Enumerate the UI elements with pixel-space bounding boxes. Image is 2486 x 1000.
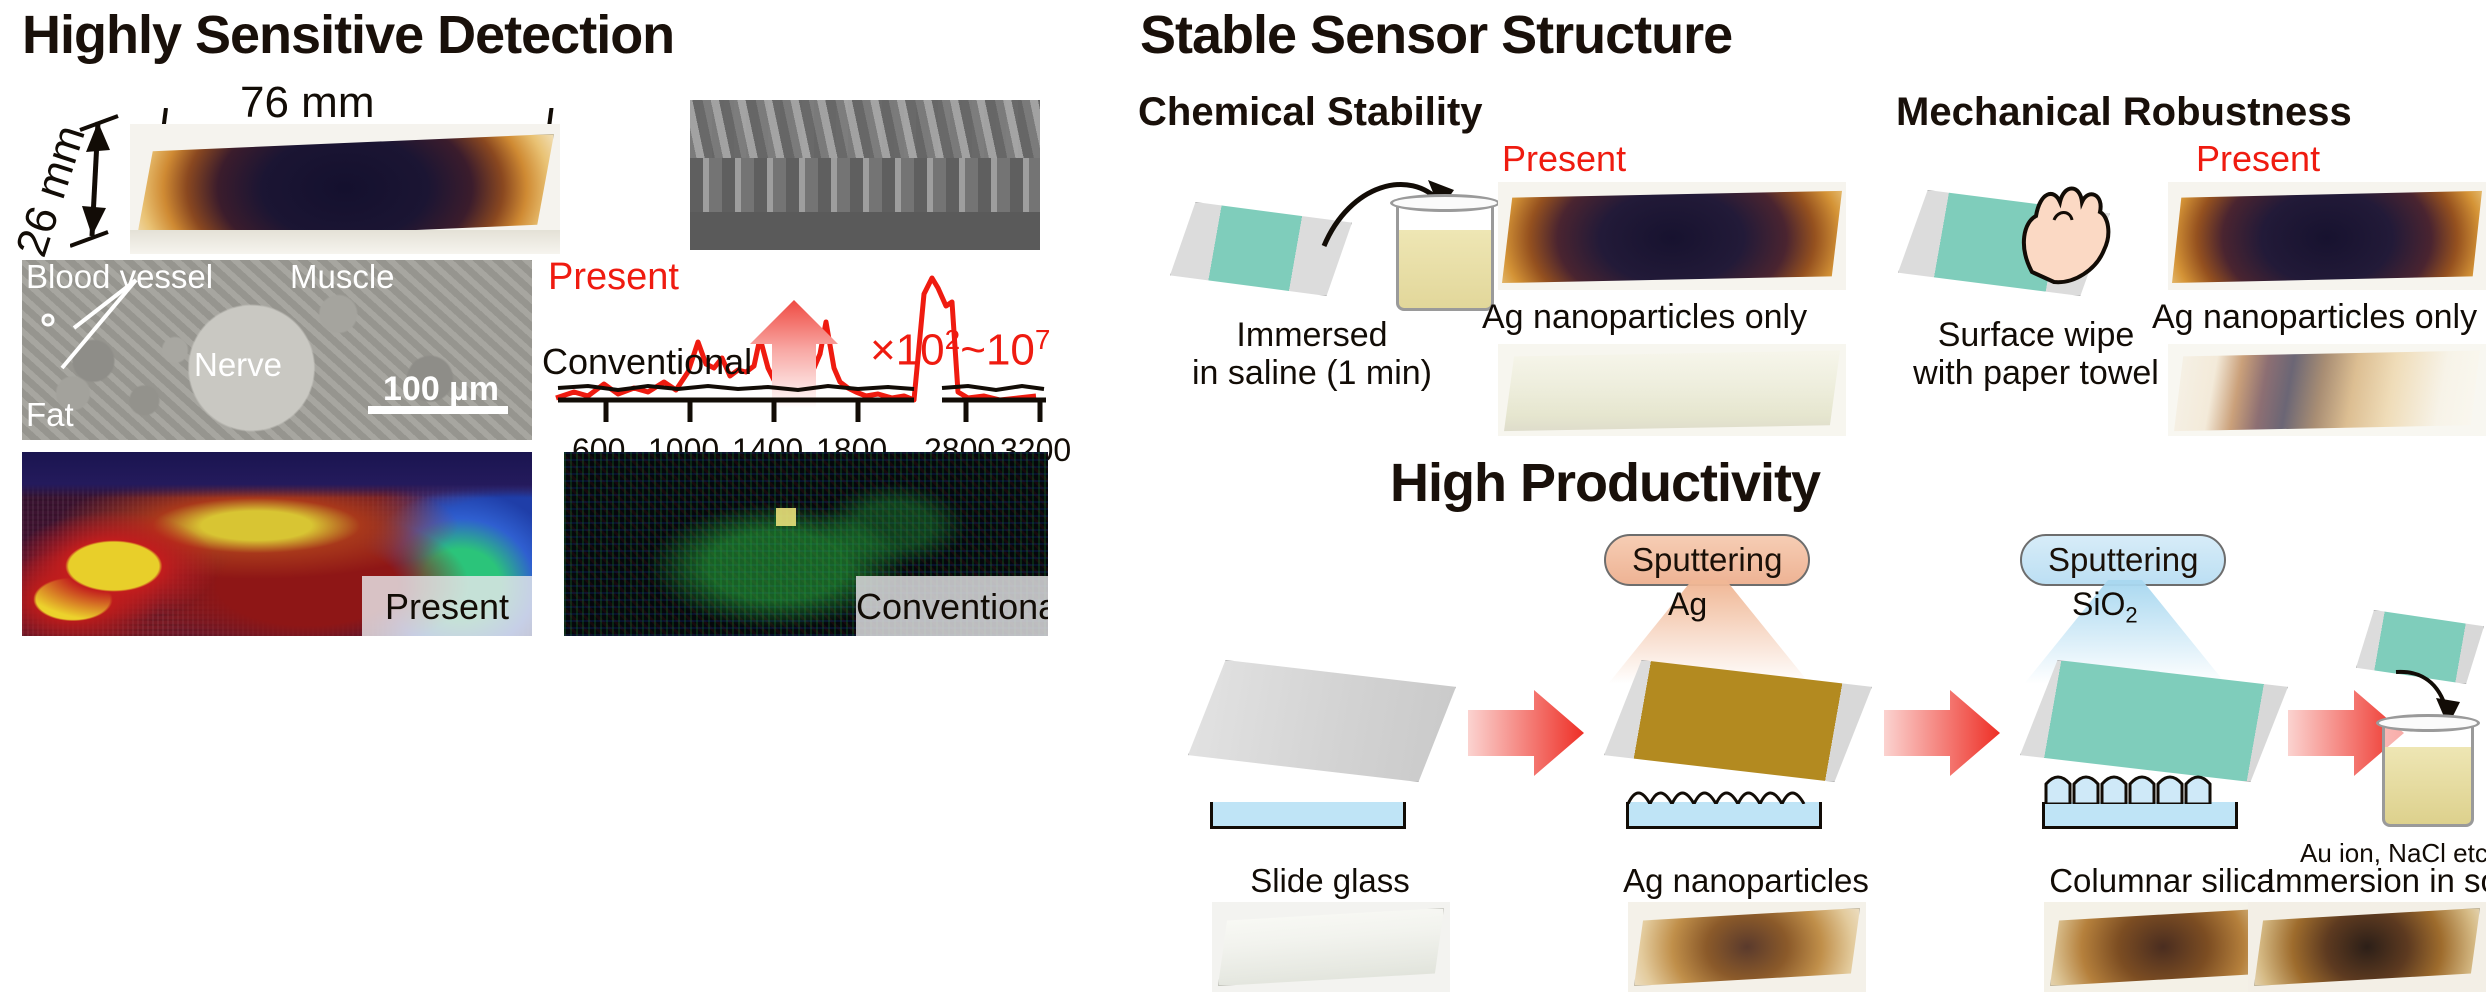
chemical-stability-illustration bbox=[1170, 160, 1500, 310]
enhancement-tilde: ~ bbox=[960, 326, 986, 375]
mechanical-other-slide-photo bbox=[2168, 344, 2486, 436]
mechanical-other-label: Ag nanoparticles only bbox=[2152, 298, 2477, 336]
chemical-other-slide-photo bbox=[1498, 344, 1846, 436]
step3-sputtering-badge: Sputtering bbox=[2020, 534, 2226, 586]
tissue-label-muscle: Muscle bbox=[290, 260, 395, 296]
enhancement-prefix: × bbox=[870, 326, 896, 375]
step2-caption: Ag nanoparticles bbox=[1596, 862, 1896, 900]
step3-layer-diagram bbox=[2042, 802, 2238, 829]
raman-map-conventional-label: Conventional bbox=[856, 586, 1048, 628]
step1-layer-diagram bbox=[1210, 802, 1406, 829]
step3-result-photo bbox=[2044, 902, 2282, 992]
enhancement-exponent-2: 7 bbox=[1035, 324, 1051, 355]
process-step-3 bbox=[2012, 660, 2312, 840]
productivity-title-text: High Productivity bbox=[1390, 452, 1860, 514]
step2-slide-graphic bbox=[1604, 660, 1872, 782]
section-title-sensitive: Highly Sensitive Detection bbox=[22, 4, 772, 66]
stable-title-text: Stable Sensor Structure bbox=[1140, 4, 1830, 66]
section-title-stable: Stable Sensor Structure bbox=[1140, 4, 1830, 66]
raman-map-present-label: Present bbox=[362, 586, 532, 628]
beaker-graphic bbox=[1396, 200, 1494, 311]
mechanical-caption-line1: Surface wipe bbox=[1876, 316, 2196, 354]
slide-height-dimension: 26 mm bbox=[10, 120, 130, 260]
process-step-4 bbox=[2336, 610, 2486, 840]
chemical-stability-subtitle: Chemical Stability bbox=[1138, 90, 1483, 135]
mechanical-robustness-caption: Surface wipe with paper towel bbox=[1876, 316, 2196, 392]
step1-result-photo bbox=[1212, 902, 1450, 992]
step4-result-photo bbox=[2248, 902, 2486, 992]
chemical-present-label: Present bbox=[1502, 138, 1626, 180]
tissue-label-fat: Fat bbox=[26, 396, 74, 434]
step3-sio2-main: SiO bbox=[2072, 586, 2125, 622]
step2-result-photo bbox=[1628, 902, 1866, 992]
step4-beaker-graphic bbox=[2382, 720, 2474, 827]
step1-caption: Slide glass bbox=[1180, 862, 1480, 900]
sem-cross-section-image: 200 nm bbox=[690, 100, 1040, 250]
chemical-stability-caption: Immersed in saline (1 min) bbox=[1152, 316, 1472, 392]
step4-caption: Immersion in solution bbox=[2266, 862, 2486, 900]
chemical-caption-line2: in saline (1 min) bbox=[1152, 354, 1472, 392]
process-arrow-2 bbox=[1884, 688, 2004, 778]
conventional-spectrum-trace bbox=[548, 374, 1048, 434]
enhancement-exponent-1: 2 bbox=[945, 324, 961, 355]
step2-sputtering-badge: Sputtering bbox=[1604, 534, 1810, 586]
process-step-2 bbox=[1596, 660, 1896, 840]
step3-sio2-sub: 2 bbox=[2125, 602, 2137, 627]
enhancement-base-1: 10 bbox=[896, 326, 945, 375]
raman-map-conventional: Conventional bbox=[564, 452, 1048, 636]
tissue-histology-image: Blood vessel Muscle Nerve Fat 100 µm bbox=[22, 260, 532, 440]
enhancement-factor-label: ×102~107 bbox=[870, 324, 1050, 376]
step2-ag-symbol: Ag bbox=[1668, 586, 1707, 623]
tissue-scalebar-label: 100 µm bbox=[356, 370, 526, 409]
mechanical-present-label: Present bbox=[2196, 138, 2320, 180]
sensitive-title-text: Highly Sensitive Detection bbox=[22, 4, 772, 66]
step1-slide-graphic bbox=[1188, 660, 1456, 782]
step3-slide-graphic bbox=[2020, 660, 2288, 782]
raman-map-present: Present bbox=[22, 452, 532, 636]
mechanical-robustness-subtitle: Mechanical Robustness bbox=[1896, 90, 2352, 135]
process-step-1 bbox=[1180, 660, 1480, 840]
chemical-caption-line1: Immersed bbox=[1152, 316, 1472, 354]
section-title-productivity: High Productivity bbox=[1390, 452, 1860, 514]
sers-slide-photo bbox=[130, 124, 560, 254]
step3-sio2-symbol: SiO2 bbox=[2072, 586, 2138, 628]
process-arrow-1 bbox=[1468, 688, 1588, 778]
hand-wipe-icon bbox=[2014, 176, 2134, 296]
enhancement-base-2: 10 bbox=[986, 326, 1035, 375]
chemical-other-label: Ag nanoparticles only bbox=[1482, 298, 1807, 336]
chemical-present-slide-photo bbox=[1498, 182, 1846, 290]
mechanical-present-slide-photo bbox=[2168, 182, 2486, 290]
mechanical-caption-line2: with paper towel bbox=[1876, 354, 2196, 392]
raman-spectra-plot: Present Conventional ×102~107 600 1000 bbox=[548, 246, 1048, 466]
step2-layer-diagram bbox=[1626, 802, 1822, 829]
